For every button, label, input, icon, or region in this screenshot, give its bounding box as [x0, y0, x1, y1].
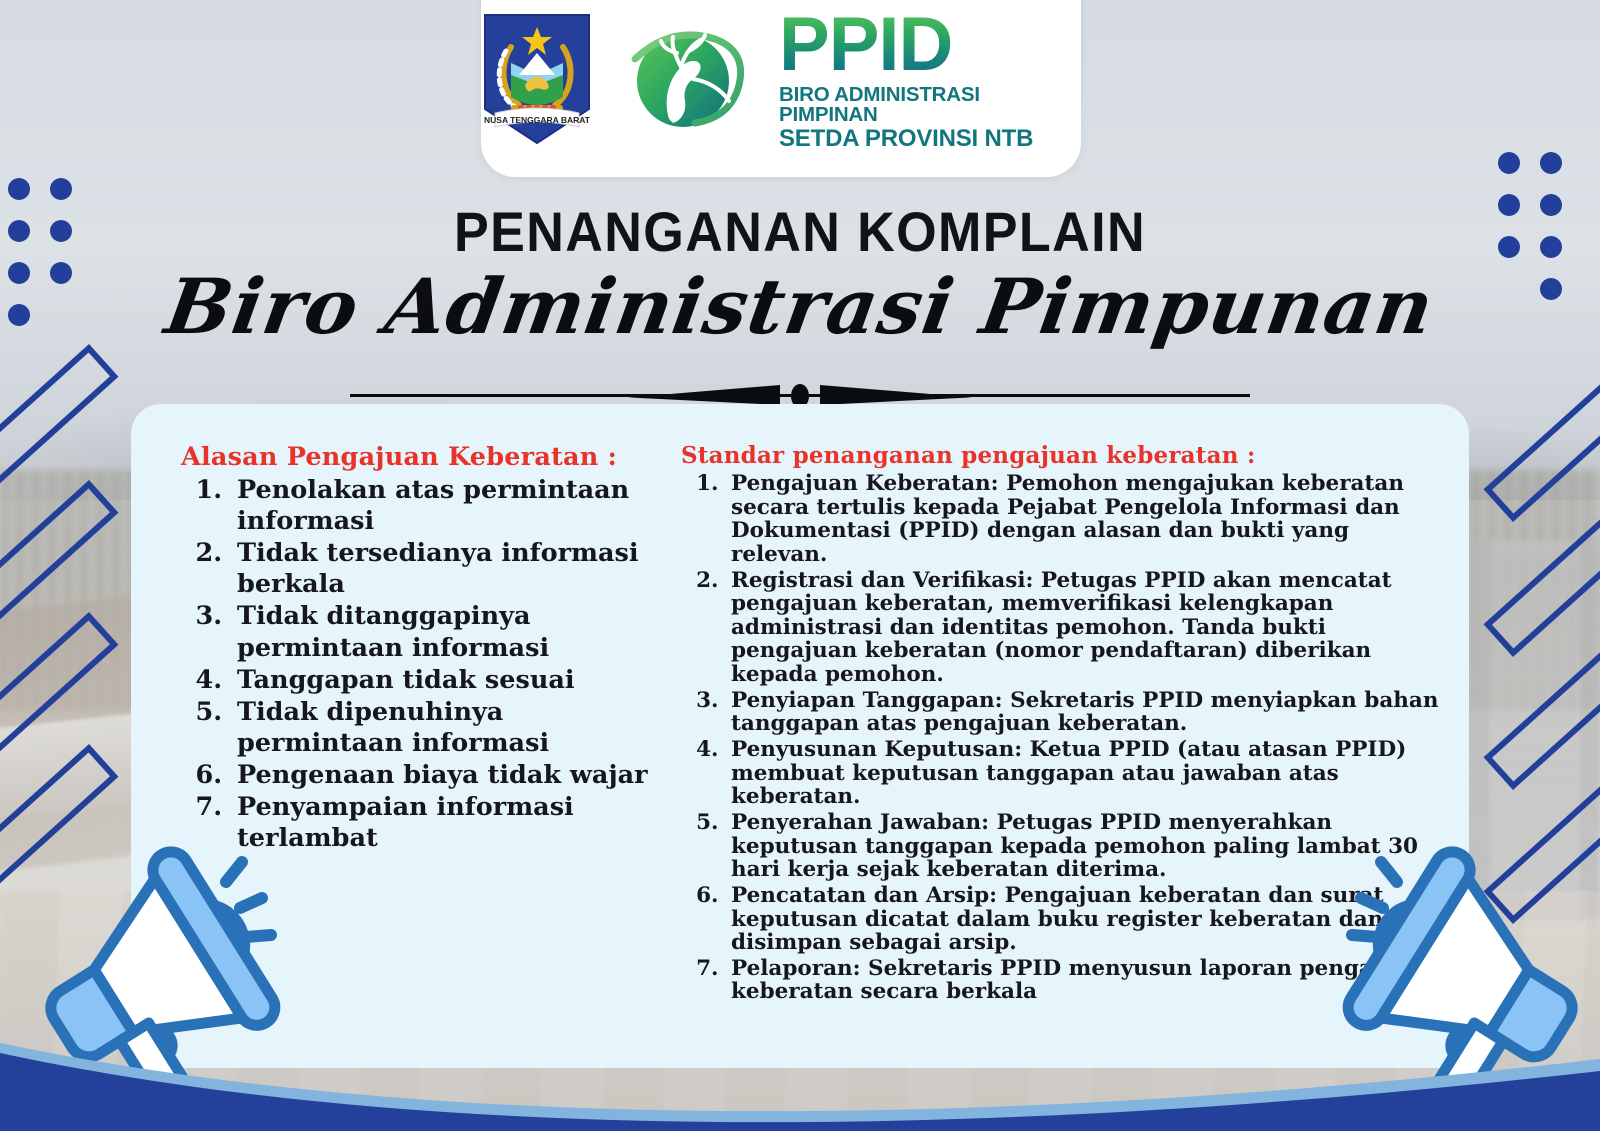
list-item: Tidak ditanggapinya permintaan informasi [231, 601, 659, 663]
alasan-pengajuan-keberatan-list: Penolakan atas permintaan informasi Tida… [159, 475, 659, 854]
ppid-word: PPID [779, 7, 1081, 83]
ppid-subtitle-line1: BIRO ADMINISTRASI PIMPINAN [779, 85, 1081, 126]
ntb-crest-icon: NUSA TENGGARA BARAT [481, 13, 593, 145]
dot [1498, 152, 1520, 174]
ppid-subtitle-line2: SETDA PROVINSI NTB [779, 127, 1081, 151]
dot [1540, 152, 1562, 174]
ppid-globe-deer-icon [611, 19, 761, 139]
list-item: Tidak dipenuhinya permintaan informasi [231, 697, 659, 759]
content-card: Alasan Pengajuan Keberatan : Penolakan a… [131, 404, 1469, 1068]
ppid-wordmark: PPID BIRO ADMINISTRASI PIMPINAN SETDA PR… [779, 7, 1081, 151]
list-item: Tidak tersedianya informasi berkala [231, 538, 659, 600]
list-item: Registrasi dan Verifikasi: Petugas PPID … [726, 569, 1441, 687]
list-item: Pengajuan Keberatan: Pemohon mengajukan … [726, 472, 1441, 567]
ornamental-divider [350, 384, 1250, 406]
bottom-wave-decoration [0, 1001, 1600, 1131]
crest-ribbon-text: NUSA TENGGARA BARAT [484, 115, 591, 125]
dot [8, 178, 30, 200]
dot [50, 178, 72, 200]
infographic-poster: NUSA TENGGARA BARAT PP [0, 0, 1600, 1131]
list-item: Penyusunan Keputusan: Ketua PPID (atau a… [726, 738, 1441, 809]
right-column-heading: Standar penanganan pengajuan keberatan : [681, 442, 1441, 469]
logo-card: NUSA TENGGARA BARAT PP [481, 0, 1081, 177]
list-item: Penolakan atas permintaan informasi [231, 475, 659, 537]
list-item: Pengenaan biaya tidak wajar [231, 760, 659, 791]
page-subtitle-script: Biro Administrasi Pimpunan [0, 262, 1600, 351]
dot [8, 220, 30, 242]
list-item: Tanggapan tidak sesuai [231, 665, 659, 696]
list-item: Penyiapan Tanggapan: Sekretaris PPID men… [726, 689, 1441, 736]
left-column-heading: Alasan Pengajuan Keberatan : [159, 442, 659, 472]
page-title: PENANGANAN KOMPLAIN [56, 199, 1544, 264]
